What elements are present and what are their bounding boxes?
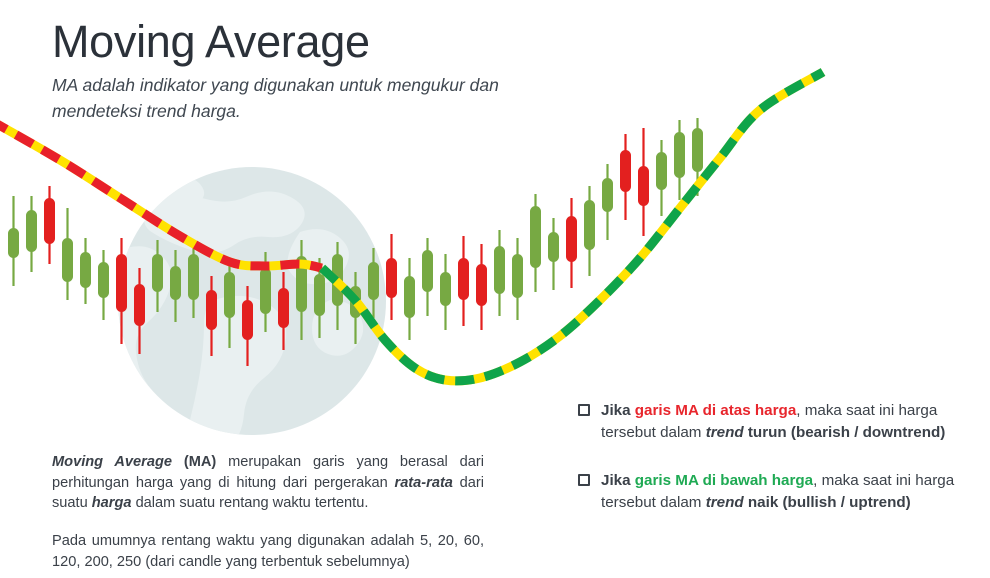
candle-wick [606, 164, 608, 240]
candle-body-up [530, 206, 541, 268]
bullet-2-emph: trend [706, 494, 744, 511]
candle-wick [552, 218, 554, 290]
candle-body-up [314, 274, 325, 316]
candle-body-up [62, 238, 73, 282]
candle-body-up [8, 228, 19, 258]
candle-body-down [242, 300, 253, 340]
candle-body-up [422, 250, 433, 292]
hollow-square-bullet-icon [578, 474, 590, 486]
globe-graphic [92, 167, 386, 460]
description-column: Moving Average (MA) merupakan garis yang… [52, 452, 484, 573]
candle-body-up [188, 254, 199, 300]
candle-wick [444, 254, 446, 330]
candle-body-down [278, 288, 289, 328]
page-subtitle: MA adalah indikator yang digunakan untuk… [52, 73, 592, 124]
candle-body-up [494, 246, 505, 294]
candle-wick [624, 134, 626, 220]
candle-wick [84, 238, 86, 304]
bullet-text-downtrend: Jika garis MA di atas harga, maka saat i… [601, 400, 976, 444]
bullet-2-highlight: garis MA di bawah harga [635, 472, 813, 489]
term-ma-abbrev: (MA) [172, 454, 216, 470]
candle-wick [498, 230, 500, 316]
candle-wick [138, 268, 140, 354]
list-item: Jika garis MA di atas harga, maka saat i… [578, 400, 976, 444]
rules-bullet-list: Jika garis MA di atas harga, maka saat i… [578, 400, 976, 514]
candlestick-series [8, 118, 703, 366]
candle-wick [174, 250, 176, 322]
term-moving-average: Moving Average [52, 454, 172, 470]
candle-wick [120, 238, 122, 344]
candle-body-down [116, 254, 127, 312]
bullet-1-emph: trend [706, 424, 744, 441]
candle-wick [390, 234, 392, 320]
candle-wick [678, 120, 680, 200]
term-rata-rata: rata-rata [395, 475, 453, 491]
candle-wick [696, 118, 698, 196]
candle-wick [30, 196, 32, 272]
candle-wick [210, 276, 212, 356]
candle-wick [588, 186, 590, 276]
candle-body-down [44, 198, 55, 244]
term-harga: harga [92, 495, 132, 511]
candle-wick [336, 242, 338, 330]
bullet-text-uptrend: Jika garis MA di bawah harga, maka saat … [601, 470, 976, 514]
page-title: Moving Average [52, 18, 672, 65]
candle-body-up [260, 268, 271, 314]
hollow-square-bullet-icon [578, 404, 590, 416]
candle-body-up [332, 254, 343, 306]
candle-body-up [674, 132, 685, 178]
candle-wick [48, 186, 50, 264]
ma-line-downtrend-accent [0, 120, 322, 268]
bullet-2-tail-bold: naik (bullish / [744, 494, 845, 511]
candle-body-up [656, 152, 667, 190]
candle-wick [660, 140, 662, 216]
candle-body-up [584, 200, 595, 250]
candle-body-up [80, 252, 91, 288]
candle-body-down [620, 150, 631, 192]
candle-wick [642, 128, 644, 236]
bullet-1-lead: Jika [601, 402, 635, 419]
candle-wick [408, 258, 410, 340]
candle-wick [66, 208, 68, 300]
candle-body-up [26, 210, 37, 252]
candle-body-up [368, 262, 379, 300]
candle-body-down [458, 258, 469, 300]
candle-body-up [602, 178, 613, 212]
bullet-2-line3: uptrend) [849, 494, 911, 511]
candle-wick [282, 272, 284, 350]
candle-body-up [350, 286, 361, 318]
candle-wick [462, 236, 464, 326]
candle-body-down [386, 258, 397, 298]
candle-body-up [548, 232, 559, 262]
candle-body-up [692, 128, 703, 172]
candle-wick [192, 244, 194, 318]
bullet-1-line3: downtrend) [863, 424, 946, 441]
candle-wick [300, 240, 302, 340]
candle-body-down [134, 284, 145, 326]
candle-body-up [152, 254, 163, 292]
list-item: Jika garis MA di bawah harga, maka saat … [578, 470, 976, 514]
candle-wick [426, 238, 428, 316]
candle-body-up [98, 262, 109, 298]
candle-wick [480, 244, 482, 330]
candle-body-up [440, 272, 451, 306]
header-block: Moving Average MA adalah indikator yang … [52, 18, 672, 124]
candle-body-up [170, 266, 181, 300]
candle-wick [156, 240, 158, 312]
candle-wick [372, 248, 374, 318]
candle-body-up [224, 272, 235, 318]
candle-wick [570, 198, 572, 288]
candle-wick [102, 250, 104, 320]
bullet-1-plain: , maka saat ini [796, 402, 894, 419]
description-paragraph-2: Pada umumnya rentang waktu yang digunaka… [52, 531, 484, 572]
candle-wick [354, 272, 356, 344]
candle-wick [228, 258, 230, 348]
bullet-2-lead: Jika [601, 472, 635, 489]
para1-text-3: dalam suatu rentang waktu tertentu. [132, 495, 369, 511]
candle-body-up [404, 276, 415, 318]
candle-wick [12, 196, 14, 286]
candle-body-down [206, 290, 217, 330]
bullet-1-highlight: garis MA di atas harga [635, 402, 797, 419]
candle-body-down [476, 264, 487, 306]
bullet-1-tail-bold: turun (bearish / [744, 424, 859, 441]
candle-body-up [296, 256, 307, 312]
ma-line-downtrend [0, 120, 322, 268]
bullet-2-plain: , maka saat ini [813, 472, 911, 489]
candle-body-up [512, 254, 523, 298]
candle-body-down [566, 216, 577, 262]
candle-wick [534, 194, 536, 292]
candle-body-down [638, 166, 649, 206]
candle-wick [246, 286, 248, 366]
candle-wick [264, 252, 266, 332]
slide-canvas: Moving Average MA adalah indikator yang … [0, 0, 990, 578]
description-paragraph-1: Moving Average (MA) merupakan garis yang… [52, 452, 484, 514]
candle-wick [318, 258, 320, 338]
candle-wick [516, 238, 518, 320]
